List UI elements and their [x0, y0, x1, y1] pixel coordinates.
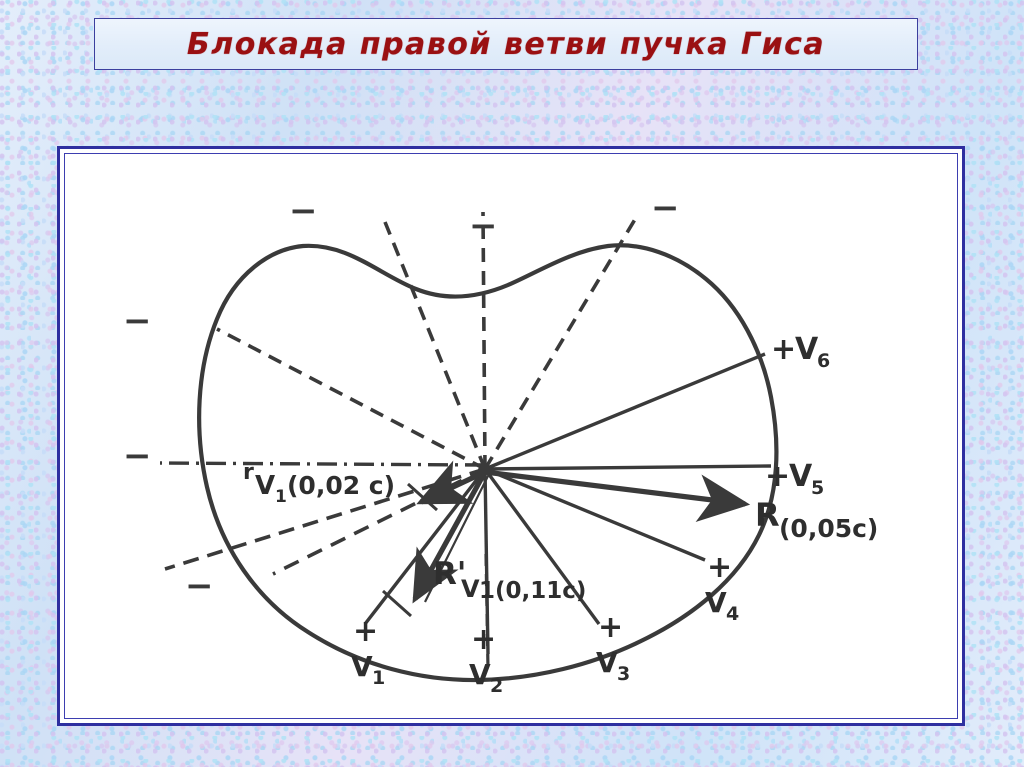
vector-r-small-main: r [243, 460, 254, 485]
diagram-frame: − − − − − − + V 6 + V 5 [57, 146, 965, 726]
slide-title-box: Блокада правой ветви пучка Гиса [94, 18, 918, 70]
lead-v5-label: + V 5 [765, 459, 824, 499]
lead-v3-sign: + [598, 610, 623, 645]
minus-top-left: − [289, 191, 318, 231]
vector-label-r-prime: R' V 1(0,11c) [433, 556, 586, 604]
minus-top-right: − [651, 188, 680, 228]
page-title: Блокада правой ветви пучка Гиса [187, 27, 825, 62]
lead-v6-label: + V 6 [771, 332, 830, 372]
lead-v4-letter: V [705, 586, 727, 619]
dashed-radius-up-left [385, 222, 485, 469]
vector-r-big-main: R [755, 496, 780, 534]
minus-sign-group: − − − − − − [123, 188, 680, 606]
lead-v1-index: 1 [372, 667, 385, 689]
vector-r-small-value: (0,02 c) [287, 471, 395, 500]
lead-v6-letter: V [795, 332, 819, 367]
dashed-radius-upper-left [217, 329, 485, 469]
lead-v4-index: 4 [726, 603, 739, 625]
lead-v2-sign: + [471, 622, 496, 657]
lead-v5-letter: V [789, 459, 813, 494]
minus-top-center: − [469, 206, 498, 246]
electrical-center-point [478, 465, 492, 475]
lead-v5-sign: + [765, 459, 790, 494]
lead-v2-index: 2 [490, 675, 503, 697]
lead-v4-sign: + [707, 550, 732, 585]
vector-arrow-r-big [485, 472, 745, 504]
lead-v6-index: 6 [817, 350, 830, 372]
dashed-radii [165, 212, 637, 574]
diagram-canvas: − − − − − − + V 6 + V 5 [64, 153, 958, 719]
minus-left-upper: − [123, 301, 152, 341]
vector-r-prime-sub: V [461, 575, 480, 603]
lead-v1-letter: V [351, 650, 373, 683]
vector-label-r-small: r V 1 (0,02 c) [243, 460, 395, 507]
lead-v1-label: + V 1 [351, 614, 385, 689]
vector-r-small-sub: V [255, 471, 275, 501]
rbbb-vector-diagram: − − − − − − + V 6 + V 5 [65, 154, 958, 719]
minus-left-middle: − [123, 436, 152, 476]
vector-r-big-value: (0,05c) [779, 514, 878, 543]
vector-r-prime-value: 1(0,11c) [479, 578, 586, 604]
solid-radius-v5 [485, 466, 771, 469]
lead-v3-index: 3 [617, 663, 630, 685]
lead-v5-index: 5 [811, 477, 824, 499]
lead-v2-letter: V [469, 658, 491, 691]
vector-label-r-big: R (0,05c) [755, 496, 878, 543]
lead-v4-label: + V 4 [705, 550, 739, 625]
dashed-radius-up-right [485, 216, 637, 469]
lead-v2-label: + V 2 [469, 622, 503, 697]
lead-v1-sign: + [353, 614, 378, 649]
minus-left-lower: − [185, 566, 214, 606]
solid-radius-v6 [485, 354, 765, 469]
vector-r-small-subindex: 1 [275, 487, 287, 507]
lead-v6-sign: + [771, 332, 796, 367]
lead-v3-letter: V [596, 646, 618, 679]
dash-dot-horizontal-axis [160, 463, 485, 465]
dashed-radius-vertical [483, 212, 485, 469]
